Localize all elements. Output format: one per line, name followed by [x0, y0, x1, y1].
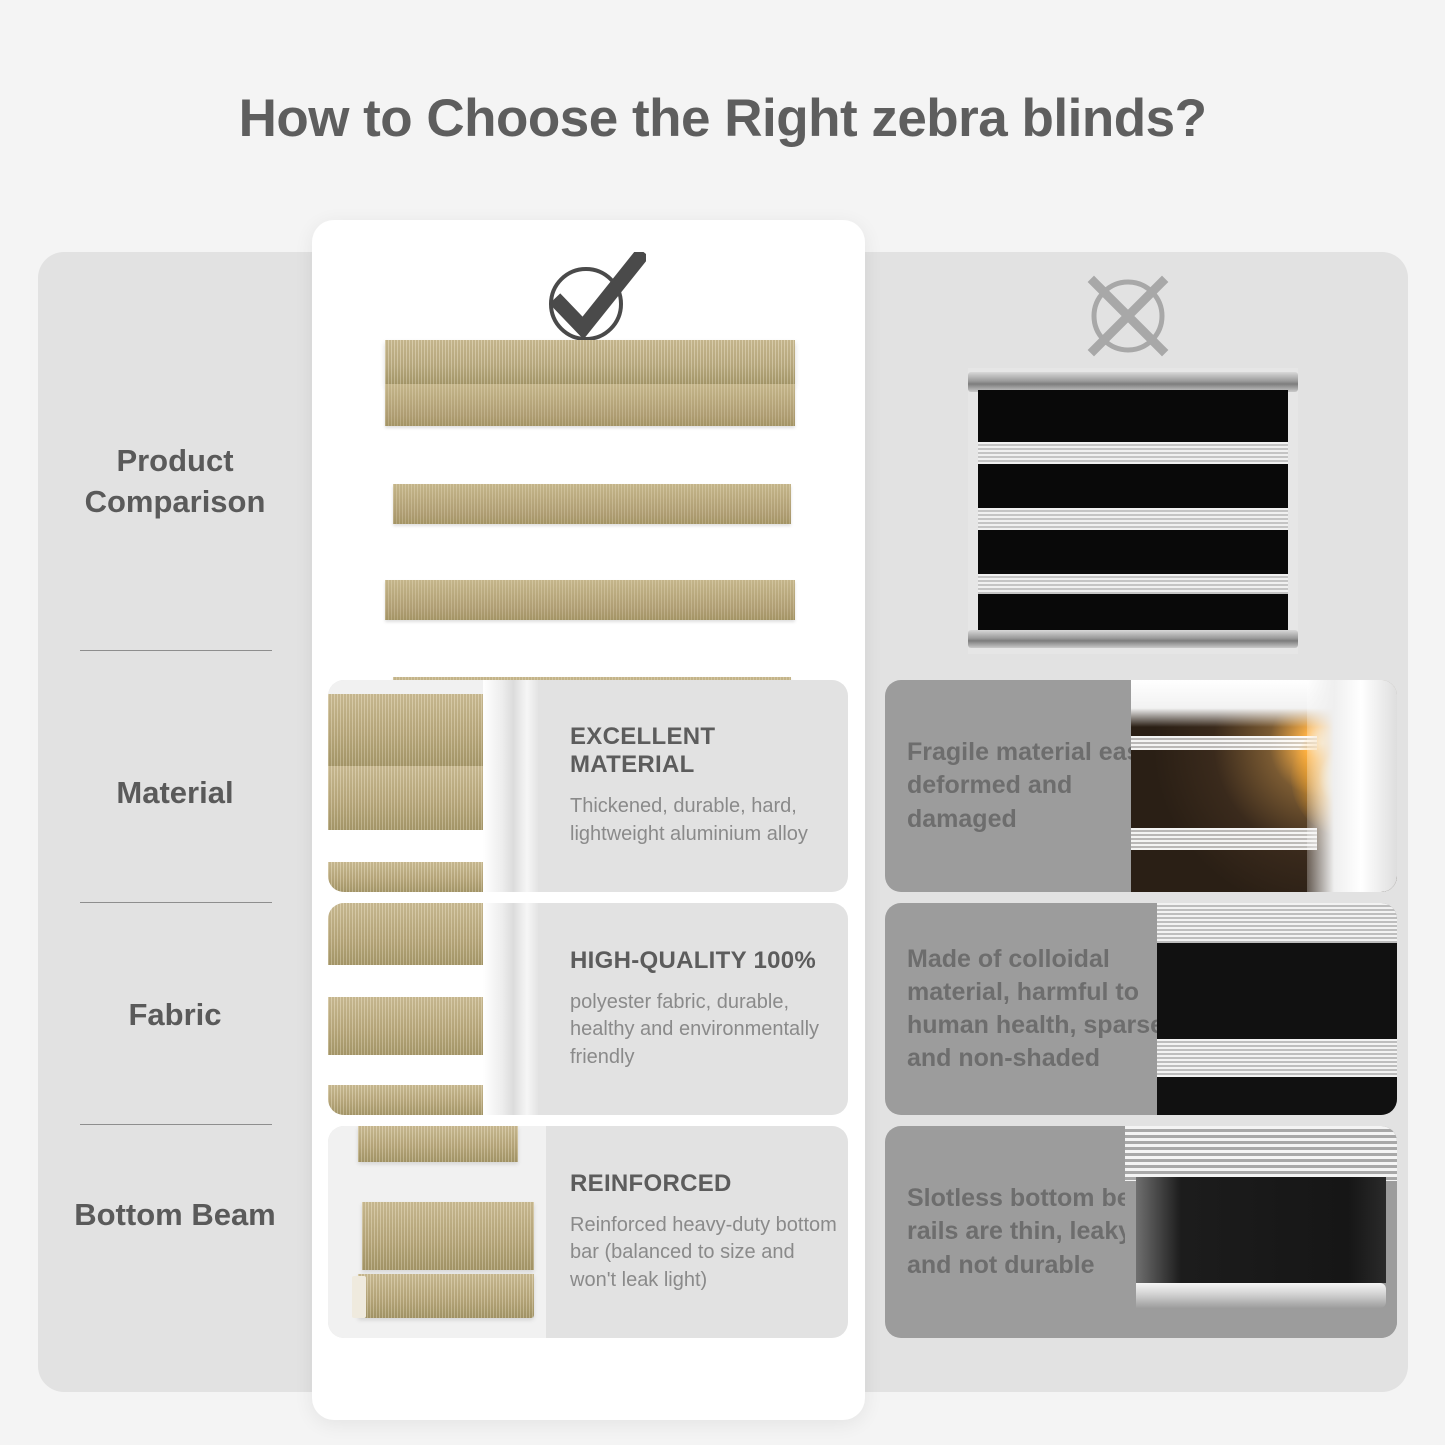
dark-band — [1157, 943, 1397, 1039]
bad-feature-card-material: Fragile material easily deformed and dam… — [885, 680, 1397, 892]
blind-sheer-band — [978, 574, 1288, 594]
slat — [328, 694, 483, 766]
good-feature-card-material: EXCELLENT MATERIAL Thickened, durable, h… — [328, 680, 848, 892]
bottom-bar-endcap — [352, 1276, 366, 1318]
good-feature-text-bottom-beam: REINFORCED Reinforced heavy-duty bottom … — [570, 1126, 838, 1338]
feature-body: Thickened, durable, hard, lightweight al… — [570, 793, 832, 848]
sheer-band — [1131, 736, 1317, 750]
good-feature-card-bottom-beam: REINFORCED Reinforced heavy-duty bottom … — [328, 1126, 848, 1338]
bad-hero-image — [968, 368, 1298, 654]
beige-blind-fabric-closeup-photo — [328, 903, 538, 1115]
sheer-band — [1157, 903, 1397, 943]
row-divider-2 — [80, 902, 272, 903]
blind-dark-band — [978, 464, 1288, 508]
louvers — [1125, 1126, 1397, 1181]
dark-band — [1157, 1077, 1397, 1115]
thin-bottom-rail — [1136, 1283, 1386, 1308]
sheer-gap — [328, 1055, 483, 1085]
good-feature-text-material: EXCELLENT MATERIAL Thickened, durable, h… — [570, 680, 832, 892]
window-frame — [1307, 680, 1397, 892]
cross-circle-icon — [1080, 268, 1176, 364]
blind-slat — [385, 384, 795, 426]
slat — [328, 766, 483, 830]
row-label-bottom-beam: Bottom Beam — [38, 1194, 312, 1235]
blind-headrail — [968, 372, 1298, 392]
sheer-band — [1157, 1039, 1397, 1077]
cheap-black-blind-fabric-closeup-photo — [1157, 903, 1397, 1115]
slat — [328, 903, 483, 965]
blind-sheer-band — [978, 508, 1288, 530]
row-label-fabric: Fabric — [38, 994, 312, 1035]
blind-slat — [385, 580, 795, 620]
bad-feature-text-fabric: Made of colloidal material, harmful to h… — [907, 903, 1183, 1115]
slat — [358, 1126, 518, 1162]
blind-headrail — [385, 340, 795, 384]
blind-dark-band — [978, 530, 1288, 574]
beige-blind-bottom-bar-closeup-photo — [328, 1126, 546, 1338]
good-feature-text-fabric: HIGH-QUALITY 100% polyester fabric, dura… — [570, 903, 838, 1115]
bottom-bar — [358, 1274, 534, 1318]
feature-body: polyester fabric, durable, healthy and e… — [570, 989, 838, 1072]
sheer-gap — [328, 830, 483, 862]
slat — [362, 1202, 534, 1270]
blind-dark-band — [978, 390, 1288, 442]
bad-feature-card-fabric: Made of colloidal material, harmful to h… — [885, 903, 1397, 1115]
row-divider-1 — [80, 650, 272, 651]
feature-heading: HIGH-QUALITY 100% — [570, 947, 838, 975]
sheer-band — [1131, 828, 1317, 850]
page-title: How to Choose the Right zebra blinds? — [0, 88, 1445, 149]
feature-body: Reinforced heavy-duty bottom bar (balanc… — [570, 1212, 838, 1295]
dark-band — [1136, 1177, 1386, 1283]
check-circle-icon — [536, 252, 646, 344]
beige-blind-headrail-closeup-photo — [328, 680, 538, 892]
bad-feature-card-bottom-beam: Slotless bottom beam rails are thin, lea… — [885, 1126, 1397, 1338]
slat — [328, 997, 483, 1055]
row-label-column: Product Comparison Material Fabric Botto… — [38, 252, 312, 1392]
blind-bottom-rail — [968, 630, 1298, 648]
feature-heading: EXCELLENT MATERIAL — [570, 723, 832, 779]
row-label-product-comparison: Product Comparison — [38, 440, 312, 522]
sheer-gap — [328, 965, 483, 997]
thin-bottom-rail-closeup-photo — [1125, 1126, 1397, 1338]
sunlight-leaking-through-blind-photo — [1131, 680, 1397, 892]
slat — [328, 1085, 483, 1115]
blind-sheer-band — [978, 442, 1288, 464]
blind-dark-band — [978, 594, 1288, 630]
window-frame — [483, 903, 538, 1115]
feature-heading: REINFORCED — [570, 1170, 838, 1198]
slat — [328, 862, 483, 892]
blind-slat — [393, 484, 791, 524]
feature-body: Made of colloidal material, harmful to h… — [907, 943, 1183, 1076]
row-divider-3 — [80, 1124, 272, 1125]
window-frame — [483, 680, 538, 892]
good-hero-image — [385, 340, 795, 670]
good-feature-card-fabric: HIGH-QUALITY 100% polyester fabric, dura… — [328, 903, 848, 1115]
row-label-material: Material — [38, 772, 312, 813]
